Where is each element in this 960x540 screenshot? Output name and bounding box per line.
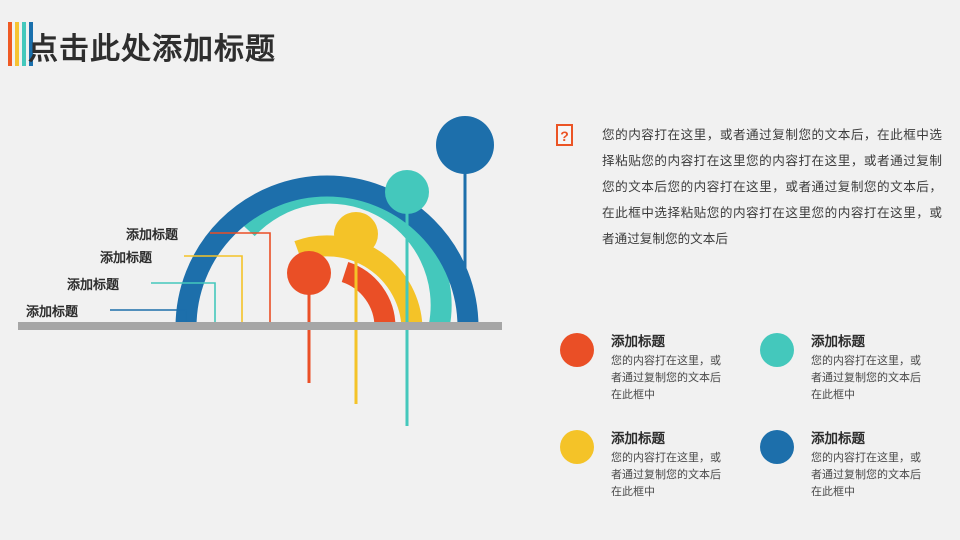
legend-desc: 您的内容打在这里，或者通过复制您的文本后在此框中 xyxy=(611,450,731,501)
legend-desc: 您的内容打在这里，或者通过复制您的文本后在此框中 xyxy=(811,450,931,501)
slide-canvas: 点击此处添加标题 添加标题 添加标题 添加标题 添加标题 xyxy=(0,0,960,540)
balloon-red[interactable] xyxy=(287,251,331,295)
legend-dot-yellow xyxy=(560,430,594,464)
legend-body: 添加标题 您的内容打在这里，或者通过复制您的文本后在此框中 xyxy=(811,330,931,404)
balloon-arc-diagram xyxy=(0,0,540,540)
balloon-teal[interactable] xyxy=(385,170,429,214)
legend-dot-blue xyxy=(760,430,794,464)
legend-dot-teal xyxy=(760,333,794,367)
balloon-blue[interactable] xyxy=(436,116,494,174)
arc-red xyxy=(345,272,385,327)
callout-label-3: 添加标题 xyxy=(67,274,119,293)
legend-item-4[interactable]: 添加标题 您的内容打在这里，或者通过复制您的文本后在此框中 xyxy=(760,427,960,524)
legend-desc: 您的内容打在这里，或者通过复制您的文本后在此框中 xyxy=(611,353,731,404)
legend-title: 添加标题 xyxy=(811,330,931,350)
legend-title: 添加标题 xyxy=(611,427,731,447)
legend-title: 添加标题 xyxy=(811,427,931,447)
callout-label-4: 添加标题 xyxy=(26,301,78,320)
baseline-bar xyxy=(18,322,502,330)
legend-title: 添加标题 xyxy=(611,330,731,350)
legend-item-3[interactable]: 添加标题 您的内容打在这里，或者通过复制您的文本后在此框中 xyxy=(560,427,760,524)
legend-grid: 添加标题 您的内容打在这里，或者通过复制您的文本后在此框中 添加标题 您的内容打… xyxy=(560,330,960,524)
intro-paragraph: 您的内容打在这里，或者通过复制您的文本后，在此框中选择粘贴您的内容打在这里您的内… xyxy=(602,122,942,252)
legend-body: 添加标题 您的内容打在这里，或者通过复制您的文本后在此框中 xyxy=(811,427,931,501)
legend-item-2[interactable]: 添加标题 您的内容打在这里，或者通过复制您的文本后在此框中 xyxy=(760,330,960,427)
intro-block: ? 您的内容打在这里，或者通过复制您的文本后，在此框中选择粘贴您的内容打在这里您… xyxy=(556,122,952,252)
balloon-yellow[interactable] xyxy=(334,212,378,256)
legend-desc: 您的内容打在这里，或者通过复制您的文本后在此框中 xyxy=(811,353,931,404)
callout-label-2: 添加标题 xyxy=(100,247,152,266)
question-mark-icon: ? xyxy=(556,124,573,146)
legend-dot-red xyxy=(560,333,594,367)
legend-body: 添加标题 您的内容打在这里，或者通过复制您的文本后在此框中 xyxy=(611,427,731,501)
legend-item-1[interactable]: 添加标题 您的内容打在这里，或者通过复制您的文本后在此框中 xyxy=(560,330,760,427)
legend-body: 添加标题 您的内容打在这里，或者通过复制您的文本后在此框中 xyxy=(611,330,731,404)
callout-label-1: 添加标题 xyxy=(126,224,178,243)
